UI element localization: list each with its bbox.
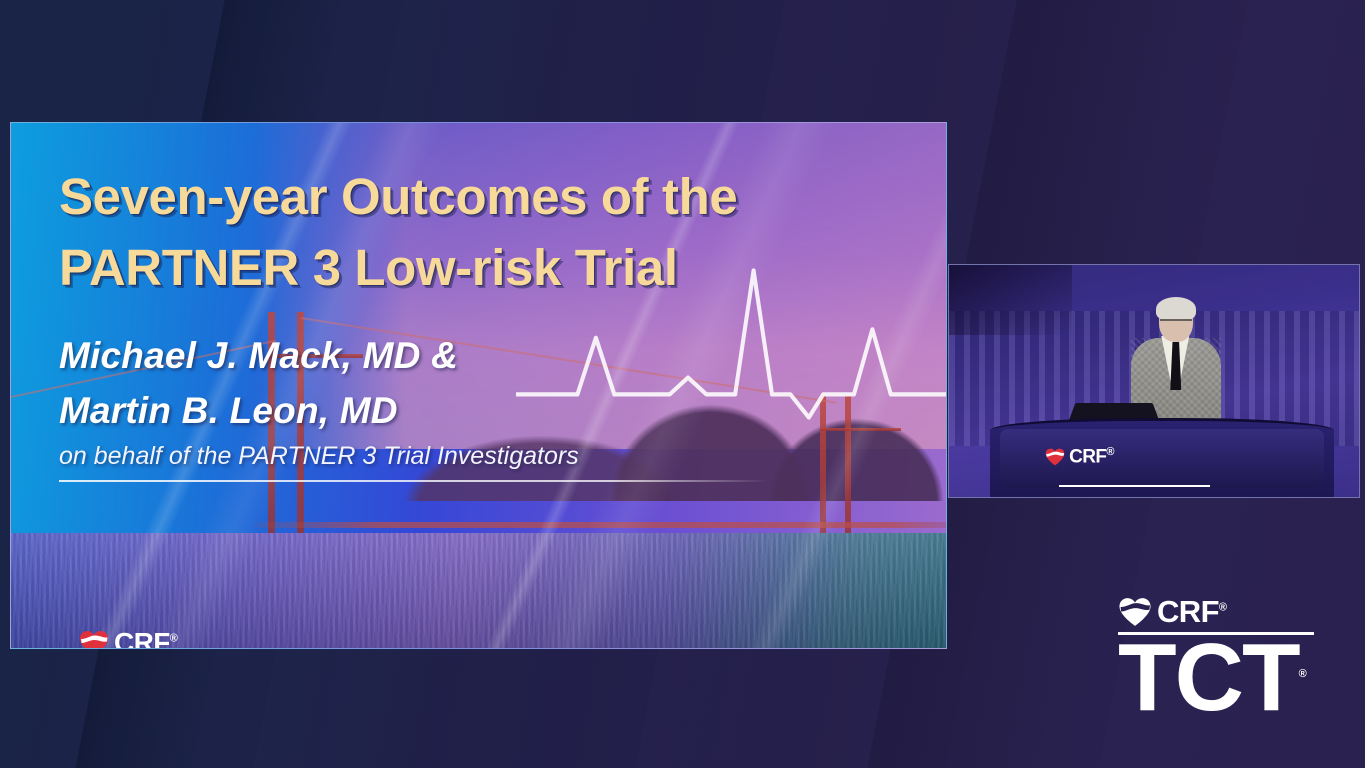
slide-text-block: Seven-year Outcomes of the PARTNER 3 Low… [59,161,919,482]
slide-title-line-1: Seven-year Outcomes of the [59,161,919,232]
author-line-2: Martin B. Leon, MD [59,383,919,439]
stage-shadow [949,265,1072,335]
slide-title-line-2: PARTNER 3 Low-risk Trial [59,232,919,303]
crf-heart-icon [79,630,109,650]
crf-wordmark: CRF® [1157,596,1226,627]
crf-logo-row: CRF® [1118,596,1314,627]
crf-tct-lockup: CRF® TCT® [79,629,245,649]
crf-tct-watermark: CRF® TCT® [1118,596,1314,720]
registered-mark: ® [1299,668,1305,680]
registered-mark: ® [1106,446,1114,458]
crf-heart-icon [1118,597,1152,627]
author-line-1: Michael J. Mack, MD & [59,328,919,384]
bridge-deck [254,522,946,528]
crf-logo-row: CRF® [79,629,245,649]
speaker-hair [1156,297,1196,321]
registered-mark: ® [170,633,178,645]
speaker-glasses [1160,319,1192,326]
podium-crf-logo: CRF® [1045,447,1114,466]
presentation-slide: Seven-year Outcomes of the PARTNER 3 Low… [10,122,947,649]
crf-heart-icon [1045,448,1065,466]
podium: CRF® [990,418,1334,497]
crf-wordmark: CRF® [1069,447,1114,466]
speaker-video-inset[interactable]: CRF® [948,264,1360,498]
slide-crf-tct-logo: CRF® TCT® TRANSCATHETER CARDIOVASCULAR T… [79,629,376,649]
slide-divider-rule [59,480,769,482]
podium-accent-line [1059,485,1211,487]
slide-authors: Michael J. Mack, MD & Martin B. Leon, MD… [59,328,919,482]
tct-wordmark: TCT® [1118,637,1314,720]
crf-wordmark: CRF® [114,629,177,649]
crf-tct-lockup: CRF® TCT® [1118,596,1314,720]
on-behalf-line: on behalf of the PARTNER 3 Trial Investi… [59,442,919,471]
registered-mark: ® [1219,602,1227,614]
